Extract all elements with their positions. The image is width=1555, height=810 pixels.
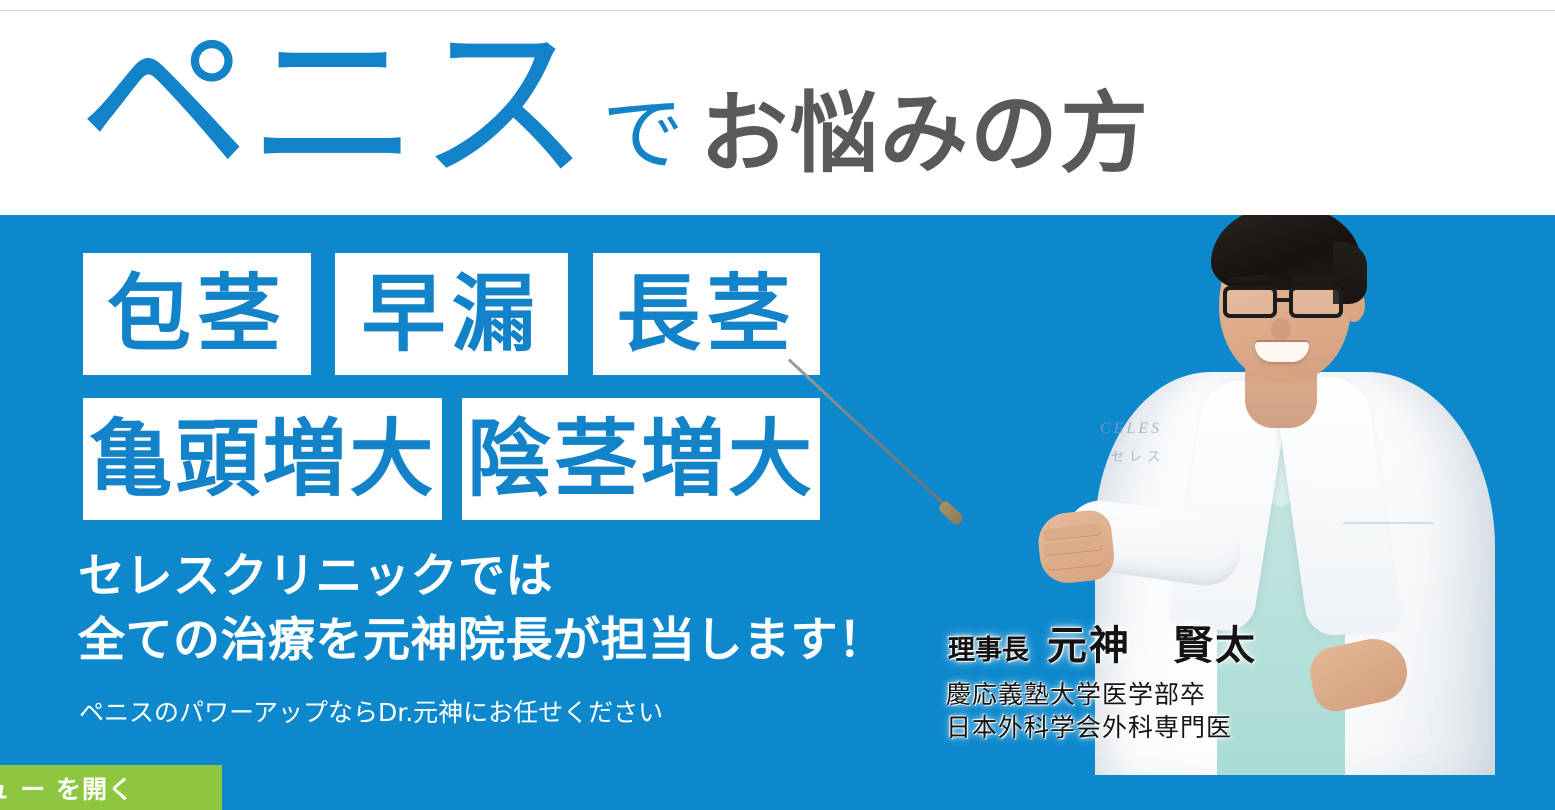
treatment-tag-label: 亀頭増大 [88, 417, 436, 501]
treatment-tag[interactable]: 包茎 [83, 253, 311, 375]
glasses-lens-right [1289, 286, 1343, 318]
blue-content-panel: 包茎 早漏 長茎 亀頭増大 陰茎増大 セレスクリニックでは 全ての治療を元神院長… [0, 215, 1555, 810]
doctor-finger [1043, 538, 1104, 555]
doctor-finger [1046, 553, 1103, 570]
pointer-stick-grip [937, 500, 964, 527]
doctor-glasses [1223, 286, 1353, 320]
headline-keyword: ペニス [78, 19, 588, 191]
open-menu-button-label: ュ ー を開く [0, 770, 134, 806]
headline-particle: で [602, 94, 684, 176]
doctor-smile [1255, 342, 1309, 362]
doctor-name: 元神 賢太 [1047, 613, 1257, 671]
headline-band: ペニス で お悩みの方 [0, 11, 1555, 215]
treatment-tag-label: 陰茎増大 [467, 417, 815, 501]
doctor-finger [1043, 523, 1102, 540]
slogan: セレスクリニックでは 全ての治療を元神院長が担当します！ [78, 545, 886, 673]
treatment-tag-label: 長茎 [616, 272, 796, 356]
treatment-tag-label: 包茎 [107, 272, 287, 356]
treatment-tag[interactable]: 長茎 [593, 253, 820, 375]
glasses-lens-left [1223, 286, 1277, 318]
doctor-credential-2: 日本外科学会外科専門医 [946, 708, 1232, 744]
slogan-line-2: 全ての治療を元神院長が担当します！ [78, 609, 886, 673]
hero-banner: ペニス で お悩みの方 包茎 早漏 長茎 亀頭増大 陰茎増大 セレスクリニックで… [0, 0, 1555, 810]
treatment-tag-label: 早漏 [361, 272, 541, 356]
doctor-credential-1: 慶応義塾大学医学部卒 [946, 675, 1206, 711]
coat-logo-text: CELES [1100, 420, 1162, 438]
open-menu-button[interactable]: ュ ー を開く [0, 765, 222, 810]
headline-rest: お悩みの方 [700, 90, 1150, 178]
treatment-tag[interactable]: 早漏 [335, 253, 568, 375]
treatment-tag[interactable]: 亀頭増大 [83, 398, 442, 520]
doctor-caption: 理事長 元神 賢太 [948, 613, 1257, 671]
treatment-tag[interactable]: 陰茎増大 [462, 398, 820, 520]
coat-logo-subtext: セレス [1111, 446, 1165, 465]
doctor-hand-holding-pointer [1036, 508, 1117, 585]
subcopy: ペニスのパワーアップならDr.元神にお任せください [79, 698, 663, 728]
doctor-coat-pocket [1343, 522, 1435, 584]
doctor-nose [1271, 318, 1291, 340]
slogan-line-1: セレスクリニックでは [78, 545, 886, 609]
headline: ペニス で お悩みの方 [78, 19, 1150, 191]
doctor-role: 理事長 [948, 628, 1029, 667]
